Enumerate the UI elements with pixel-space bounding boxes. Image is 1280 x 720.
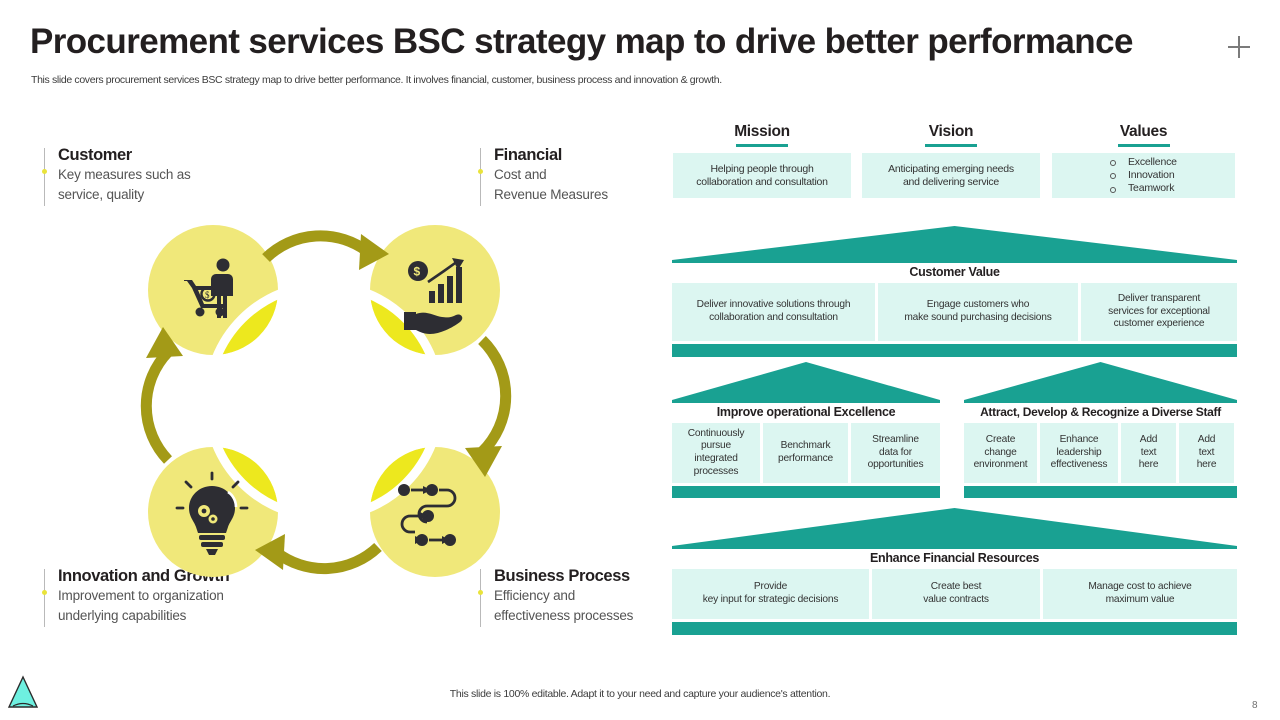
column-line1: Continuously — [688, 428, 745, 439]
page-title: Procurement services BSC strategy map to… — [30, 22, 1133, 62]
column-line1: Engage customers who — [927, 299, 1029, 310]
roof-shape — [672, 226, 1237, 260]
column-line3: here — [1139, 459, 1159, 470]
column-line2: pursue — [701, 440, 731, 451]
vision-block[interactable]: Vision Anticipating emerging needs and d… — [862, 122, 1040, 198]
column-line2: data for — [879, 447, 912, 458]
column-line2: change — [984, 447, 1016, 458]
section-improve-operational-excellence[interactable]: Improve operational Excellence Continuou… — [672, 362, 940, 498]
label-dot — [478, 169, 483, 174]
mission-line2: collaboration and consultation — [696, 176, 827, 188]
section-title: Enhance Financial Resources — [672, 550, 1237, 567]
mission-text: Helping people through collaboration and… — [673, 153, 851, 198]
vision-heading: Vision — [862, 122, 1040, 142]
column-line1: Benchmark — [781, 440, 831, 451]
column-line1: Enhance — [1060, 434, 1099, 445]
vision-line1: Anticipating emerging needs — [888, 163, 1014, 175]
section-enhance-financial-resources[interactable]: Enhance Financial Resources Provide key … — [672, 508, 1237, 635]
roof-band — [672, 260, 1237, 263]
column-line3: effectiveness — [1051, 459, 1108, 470]
section-title: Customer Value — [672, 264, 1237, 281]
svg-text:$: $ — [414, 265, 421, 279]
section-attract-develop-recognize[interactable]: Attract, Develop & Recognize a Diverse S… — [964, 362, 1237, 498]
column-box[interactable]: Engage customers who make sound purchasi… — [878, 283, 1078, 341]
roof-shape — [672, 362, 940, 400]
quadrant-title: Customer — [58, 145, 191, 165]
cycle-diagram-panel: Customer Key measures such as service, q… — [0, 110, 660, 650]
column-line2: text — [1199, 447, 1215, 458]
mission-vision-values-row: Mission Helping people through collabora… — [660, 122, 1280, 212]
column-box[interactable]: Streamline data for opportunities — [851, 423, 940, 483]
quadrant-title: Financial — [494, 145, 608, 165]
section-columns: Create change environment Enhance leader… — [964, 423, 1237, 483]
page-number: 8 — [1252, 700, 1258, 711]
column-line2: performance — [778, 453, 833, 464]
section-base — [672, 486, 940, 498]
column-line1: Provide — [754, 581, 787, 592]
mission-underline — [736, 144, 788, 147]
section-columns: Continuously pursue integrated processes… — [672, 423, 940, 483]
roof-shape — [964, 362, 1237, 400]
arrow-innovation-to-customer — [146, 352, 168, 460]
column-line1: Add — [1140, 434, 1158, 445]
column-box[interactable]: Continuously pursue integrated processes — [672, 423, 760, 483]
label-dot — [42, 590, 47, 595]
page-subtitle: This slide covers procurement services B… — [31, 74, 722, 86]
values-item: Teamwork — [1106, 182, 1235, 195]
values-heading: Values — [1052, 122, 1235, 142]
column-box[interactable]: Deliver transparent services for excepti… — [1081, 283, 1237, 341]
column-line2: leadership — [1056, 447, 1101, 458]
slide-canvas: Procurement services BSC strategy map to… — [0, 0, 1280, 720]
section-title: Attract, Develop & Recognize a Diverse S… — [964, 404, 1237, 421]
section-base — [672, 344, 1237, 357]
column-line1: Create best — [931, 581, 981, 592]
cycle-graphic: $ $ — [110, 190, 530, 610]
column-line1: Manage cost to achieve — [1088, 581, 1191, 592]
column-box[interactable]: Provide key input for strategic decision… — [672, 569, 869, 619]
column-line3: here — [1197, 459, 1217, 470]
vision-text: Anticipating emerging needs and deliveri… — [862, 153, 1040, 198]
column-line2: collaboration and consultation — [709, 312, 838, 323]
roof-band — [672, 400, 940, 403]
quadrant-desc-line1: Key measures such as — [58, 165, 191, 185]
label-rule — [44, 569, 45, 627]
column-line1: Deliver innovative solutions through — [697, 299, 851, 310]
values-item: Excellence — [1106, 156, 1235, 169]
section-columns: Provide key input for strategic decision… — [672, 569, 1237, 619]
section-customer-value[interactable]: Customer Value Deliver innovative soluti… — [672, 226, 1237, 357]
column-line1: Add — [1198, 434, 1216, 445]
vision-line2: and delivering service — [903, 176, 999, 188]
column-line2: services for exceptional — [1108, 306, 1210, 317]
column-box[interactable]: Create best value contracts — [872, 569, 1040, 619]
column-line2: value contracts — [923, 594, 989, 605]
column-line3: integrated — [694, 453, 737, 464]
vision-underline — [925, 144, 977, 147]
roof-band — [672, 546, 1237, 549]
strategy-map-panel: Mission Helping people through collabora… — [660, 110, 1280, 655]
plus-icon[interactable] — [1228, 36, 1250, 58]
column-line3: environment — [974, 459, 1028, 470]
column-line2: make sound purchasing decisions — [904, 312, 1051, 323]
arrow-customer-to-financial — [266, 236, 368, 258]
values-underline — [1118, 144, 1170, 147]
mission-heading: Mission — [673, 122, 851, 142]
column-box[interactable]: Enhance leadership effectiveness — [1040, 423, 1118, 483]
column-line2: text — [1141, 447, 1157, 458]
quadrant-desc-line1: Cost and — [494, 165, 608, 185]
column-line1: Deliver transparent — [1118, 293, 1200, 304]
column-line2: maximum value — [1106, 594, 1175, 605]
values-item: Innovation — [1106, 169, 1235, 182]
section-title: Improve operational Excellence — [672, 404, 940, 421]
roof-band — [964, 400, 1237, 403]
mission-line1: Helping people through — [710, 163, 813, 175]
column-line2: key input for strategic decisions — [703, 594, 839, 605]
column-box[interactable]: Add text here — [1121, 423, 1176, 483]
column-line3: customer experience — [1114, 318, 1205, 329]
column-line3: opportunities — [868, 459, 924, 470]
mission-block[interactable]: Mission Helping people through collabora… — [673, 122, 851, 198]
arrow-financial-to-business — [482, 340, 506, 452]
column-box[interactable]: Manage cost to achieve maximum value — [1043, 569, 1237, 619]
section-columns: Deliver innovative solutions through col… — [672, 283, 1237, 341]
footer-note: This slide is 100% editable. Adapt it to… — [0, 688, 1280, 700]
label-dot — [42, 169, 47, 174]
svg-text:$: $ — [205, 290, 210, 300]
column-line1: Streamline — [872, 434, 919, 445]
arrow-business-to-innovation — [276, 547, 378, 569]
label-rule — [44, 148, 45, 206]
column-box[interactable]: Benchmark performance — [763, 423, 848, 483]
roof-shape — [672, 508, 1237, 546]
section-base — [672, 622, 1237, 635]
column-box[interactable]: Create change environment — [964, 423, 1037, 483]
column-box[interactable]: Add text here — [1179, 423, 1234, 483]
values-list: Excellence Innovation Teamwork — [1052, 153, 1235, 198]
column-line4: processes — [694, 466, 739, 477]
column-box[interactable]: Deliver innovative solutions through col… — [672, 283, 875, 341]
column-line1: Create — [986, 434, 1015, 445]
section-base — [964, 486, 1237, 498]
values-block[interactable]: Values Excellence Innovation Teamwork — [1052, 122, 1235, 198]
